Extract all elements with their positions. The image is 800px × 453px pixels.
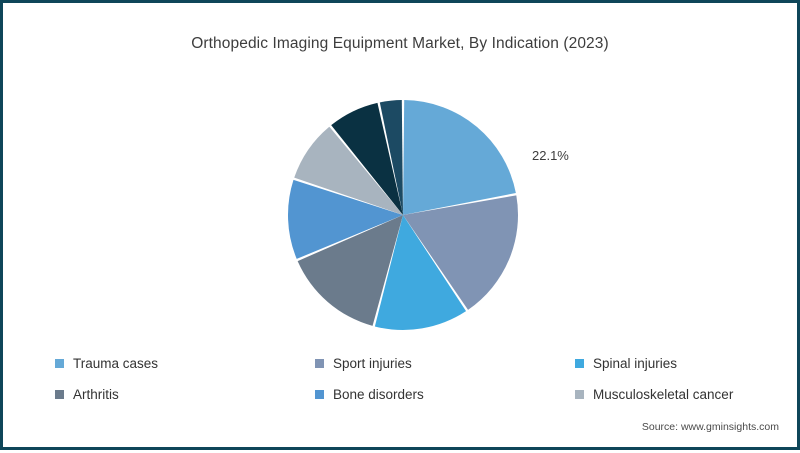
legend-item-trauma-cases[interactable]: Trauma cases xyxy=(55,356,315,371)
legend-item-bone-disorders[interactable]: Bone disorders xyxy=(315,387,575,402)
legend-swatch-icon xyxy=(575,390,584,399)
legend-swatch-icon xyxy=(575,359,584,368)
legend-item-label: Trauma cases xyxy=(73,356,158,371)
legend-item-arthritis[interactable]: Arthritis xyxy=(55,387,315,402)
legend-swatch-icon xyxy=(55,359,64,368)
legend-item-sport-injuries[interactable]: Sport injuries xyxy=(315,356,575,371)
legend-swatch-icon xyxy=(315,390,324,399)
legend-item-label: Bone disorders xyxy=(333,387,424,402)
source-attribution: Source: www.gminsights.com xyxy=(642,421,779,433)
legend-swatch-icon xyxy=(315,359,324,368)
legend-item-spinal-injuries[interactable]: Spinal injuries xyxy=(575,356,765,371)
legend-item-label: Spinal injuries xyxy=(593,356,677,371)
chart-frame: Orthopedic Imaging Equipment Market, By … xyxy=(0,0,800,450)
legend-item-label: Sport injuries xyxy=(333,356,412,371)
legend-item-label: Musculoskeletal cancer xyxy=(593,387,733,402)
legend-item-label: Arthritis xyxy=(73,387,119,402)
chart-legend: Trauma cases Sport injuries Spinal injur… xyxy=(55,356,765,402)
legend-swatch-icon xyxy=(55,390,64,399)
legend-item-musculoskeletal-cancer[interactable]: Musculoskeletal cancer xyxy=(575,387,765,402)
slice-percentage-label: 22.1% xyxy=(532,148,569,163)
pie-slice[interactable] xyxy=(403,100,516,215)
